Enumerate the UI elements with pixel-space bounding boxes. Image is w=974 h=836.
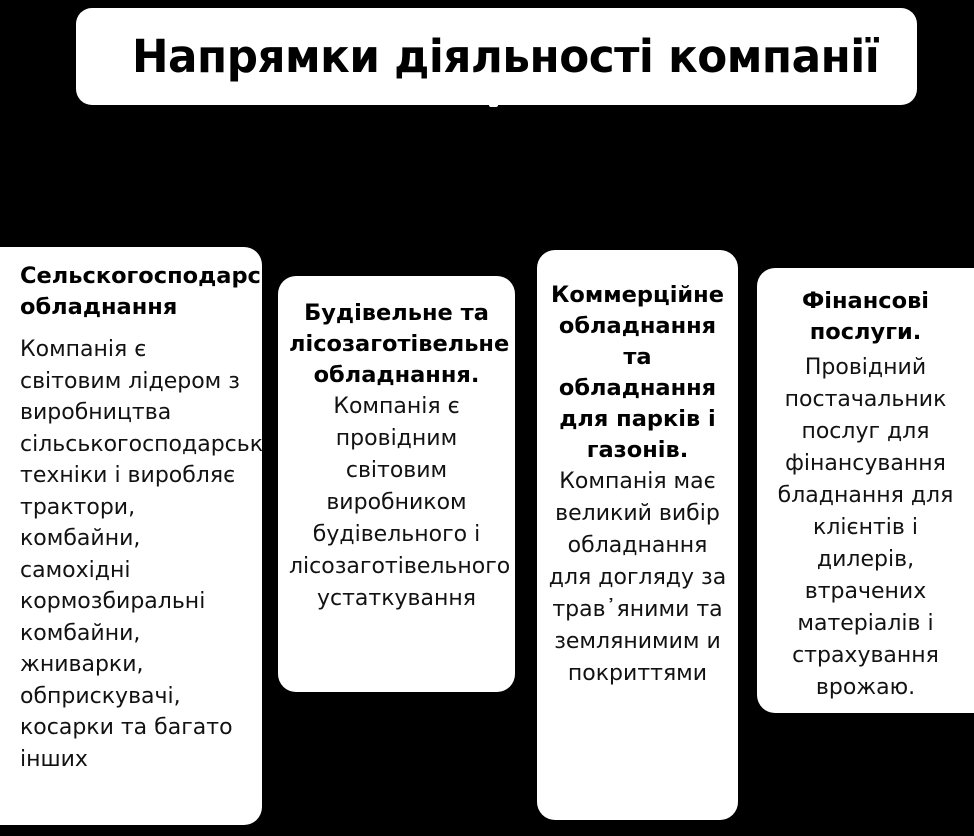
card-agricultural-equipment[interactable]: Сельскогосподарське обладнання Компанія … (0, 247, 262, 825)
slide-canvas: Напрямки діяльності компанії Сельскогосп… (0, 0, 974, 836)
title-card: Напрямки діяльності компанії (76, 8, 917, 105)
card-heading: Фінансові послуги. (769, 286, 962, 348)
card-heading: Коммерційне обладнання та обладнання для… (543, 280, 732, 466)
card-body-text: Компанія має великий вибір обладнання дл… (543, 466, 732, 690)
title-connector-nub (489, 101, 498, 107)
card-body-text: Компанія є світовим лідером з виробництв… (20, 334, 254, 775)
card-construction-forestry-equipment[interactable]: Будівельне та лісозаготівельне обладнанн… (278, 276, 515, 692)
page-title: Напрямки діяльності компанії (132, 33, 879, 80)
card-heading: Сельскогосподарське обладнання (20, 261, 254, 323)
card-body-text: Провідний постачальник послуг для фінанс… (769, 352, 962, 704)
card-heading: Будівельне та лісозаготівельне обладнанн… (289, 298, 504, 391)
card-commercial-park-lawn-equipment[interactable]: Коммерційне обладнання та обладнання для… (537, 250, 738, 820)
card-financial-services[interactable]: Фінансові послуги. Провідний постачальни… (757, 268, 974, 713)
card-body-text: Компанія є провідним світовим виробником… (289, 391, 504, 615)
